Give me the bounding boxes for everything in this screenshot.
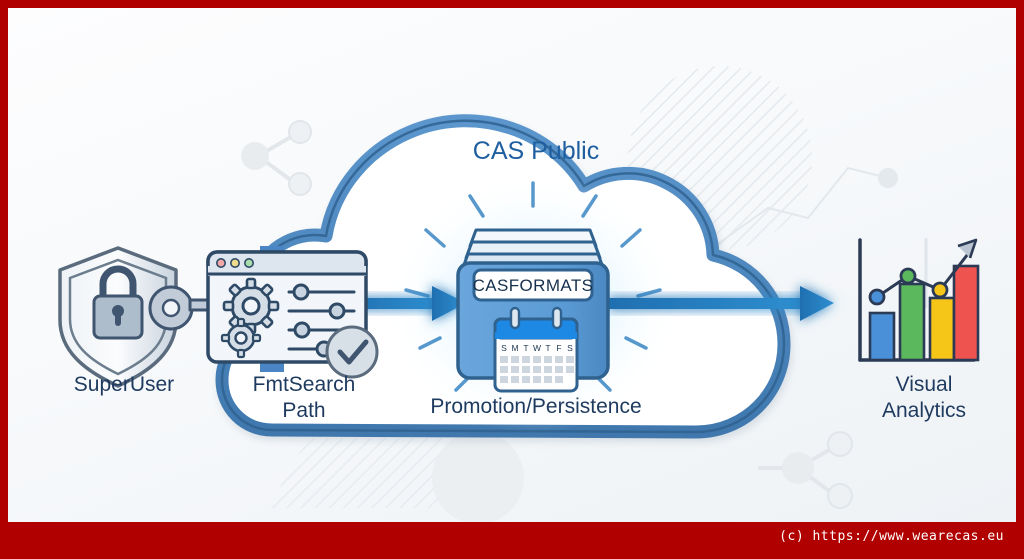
gear-icon [224, 279, 278, 333]
svg-text:F: F [556, 343, 561, 353]
browser-settings-icon [208, 246, 377, 377]
bar-4 [954, 266, 978, 360]
bar-1 [870, 313, 894, 360]
bar-2 [900, 284, 924, 360]
decor-circle-bottom [432, 432, 524, 522]
network-node-bottom-right [758, 432, 852, 508]
svg-text:T: T [545, 343, 550, 353]
file-box-calendar-icon: CASFORMATS S M T W T F S [458, 230, 608, 391]
svg-text:W: W [533, 343, 541, 353]
bar-3 [930, 298, 954, 360]
label-promotion-persistence: Promotion/Persistence [376, 394, 696, 420]
diagram-canvas: CASFORMATS S M T W T F S [8, 8, 1016, 522]
calendar-icon: S M T W T F S [495, 308, 577, 391]
svg-text:S: S [501, 343, 507, 353]
svg-text:M: M [511, 343, 518, 353]
label-fmtsearch-path: FmtSearch Path [204, 372, 404, 424]
network-node-top-left [241, 121, 311, 195]
decor-node-dot [878, 168, 898, 188]
watermark: (c) https://www.wearecas.eu [8, 522, 1016, 551]
chart-bars [870, 266, 978, 360]
calendar-cells [500, 356, 574, 383]
bar-chart-trend-icon [860, 240, 978, 360]
check-badge-icon [327, 327, 377, 377]
svg-text:S: S [567, 343, 573, 353]
svg-text:T: T [523, 343, 528, 353]
cloud-title: CAS Public [376, 138, 696, 164]
casformats-label: CASFORMATS [473, 276, 594, 295]
diagram-frame: CASFORMATS S M T W T F S [8, 8, 1016, 522]
label-visual-analytics: Visual Analytics [824, 372, 1016, 424]
